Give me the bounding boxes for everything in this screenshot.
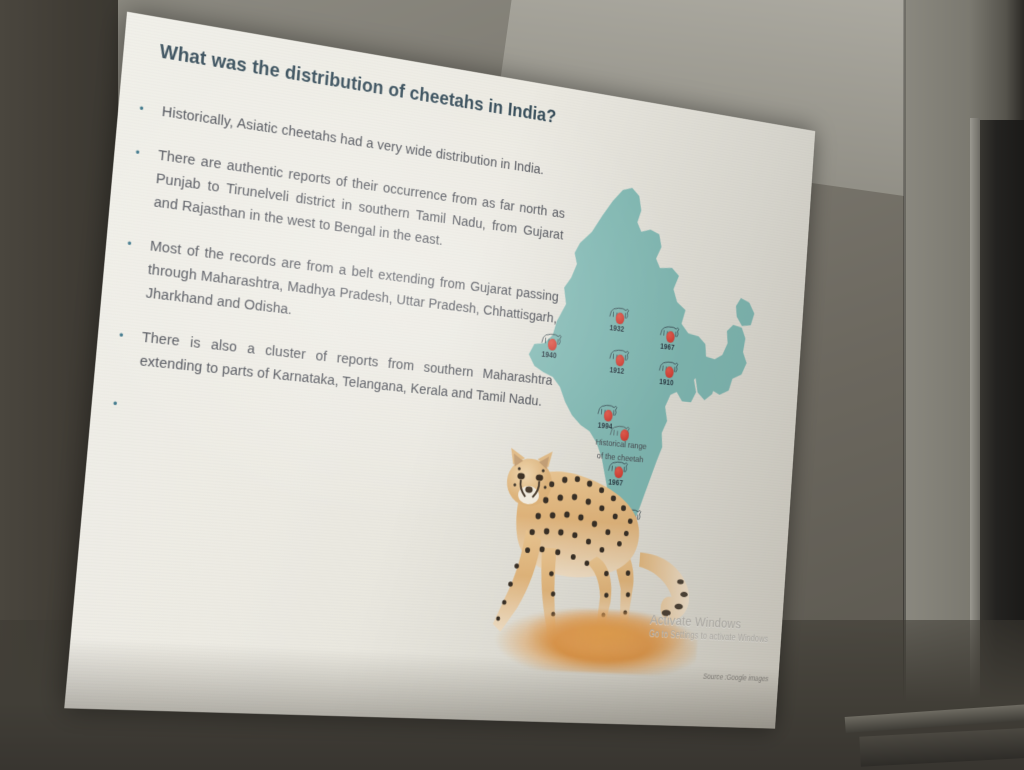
range-pin-icon (665, 366, 674, 378)
marker-year-label: 1967 (660, 342, 675, 352)
bullet-list: • Historically, Asiatic cheetahs had a v… (113, 97, 569, 442)
marker-year-label: 1932 (609, 324, 624, 334)
cheetah-photo (476, 426, 747, 683)
screenshot-root: What was the distribution of cheetahs in… (0, 0, 1024, 770)
bullet-marker-icon: • (130, 141, 146, 213)
marker-year-label: 1912 (609, 366, 624, 376)
range-pin-icon (615, 312, 624, 325)
range-pin-icon (615, 354, 624, 366)
range-pin-icon (666, 331, 675, 343)
bullet-marker-icon: • (116, 324, 130, 373)
range-pin-icon (548, 338, 558, 351)
marker-year-label: 1910 (659, 378, 674, 387)
marker-year-label: 1994 (598, 421, 613, 430)
marker-year-label: 1940 (541, 350, 557, 360)
range-pin-icon (604, 409, 613, 421)
bullet-marker-icon: • (138, 97, 149, 122)
bullet-marker-icon: • (122, 232, 138, 304)
projection-screen: What was the distribution of cheetahs in… (64, 12, 815, 729)
presentation-slide: What was the distribution of cheetahs in… (64, 12, 815, 729)
bullet-marker-icon: • (113, 392, 123, 403)
windows-activation-watermark: Activate Windows Go to Settings to activ… (649, 612, 770, 645)
